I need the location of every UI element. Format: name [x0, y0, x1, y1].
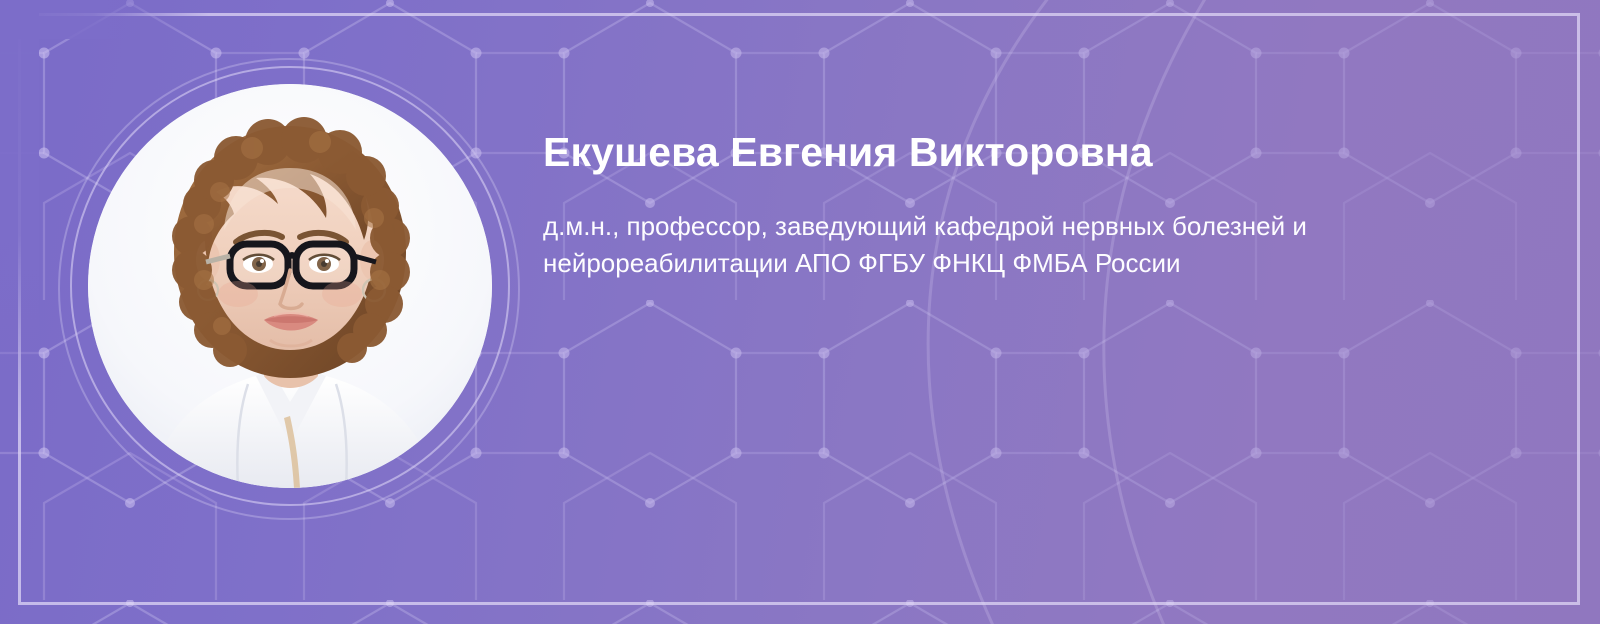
speaker-portrait	[88, 84, 492, 488]
portrait-disc	[88, 84, 492, 488]
speaker-text-block: Екушева Евгения Викторовна д.м.н., профе…	[543, 128, 1383, 281]
portrait-photo-avatar	[88, 84, 492, 488]
speaker-name: Екушева Евгения Викторовна	[543, 128, 1383, 176]
speaker-credentials: д.м.н., профессор, заведующий кафедрой н…	[543, 176, 1343, 281]
speaker-banner: Екушева Евгения Викторовна д.м.н., профе…	[0, 0, 1600, 624]
